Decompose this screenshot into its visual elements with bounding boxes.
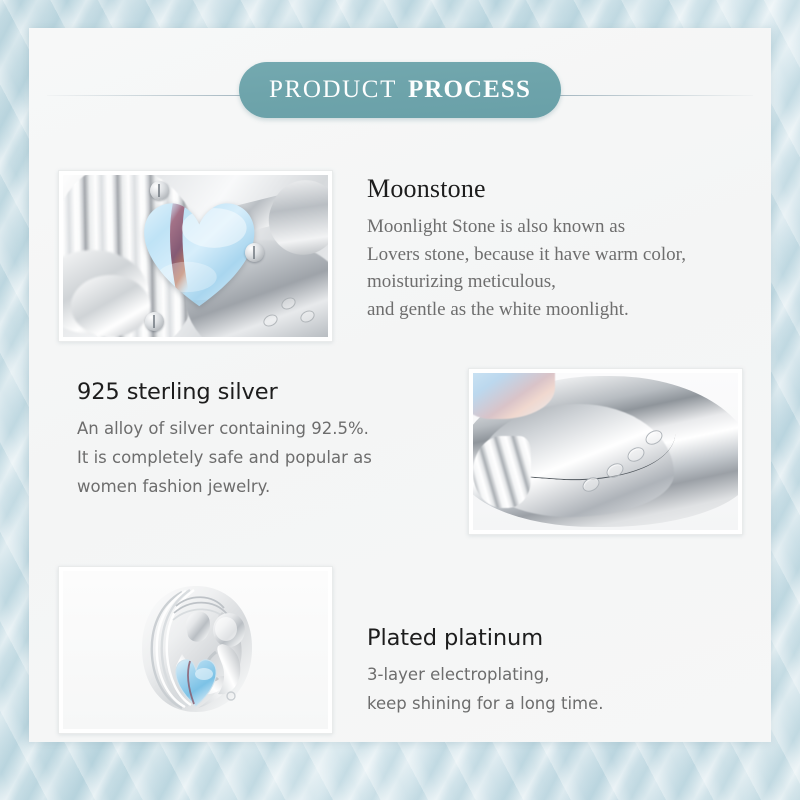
moonstone-heart-gem xyxy=(137,193,262,310)
section-moonstone-line-3: moisturizing meticulous, xyxy=(367,268,747,296)
page-title-bold: PROCESS xyxy=(408,76,531,103)
page-title: PRODUCTPROCESS xyxy=(269,76,531,104)
section-plated-platinum-heading: Plated platinum xyxy=(367,625,747,651)
header-rule-left xyxy=(47,95,269,96)
moonstone-macro-photo xyxy=(63,175,328,337)
section-plated-platinum-line-2: keep shining for a long time. xyxy=(367,689,747,718)
header-banner-pill: PRODUCTPROCESS xyxy=(239,62,561,118)
inner-panel: PRODUCTPROCESS xyxy=(29,28,771,742)
section-sterling-silver-line-2: It is completely safe and popular as xyxy=(77,443,457,472)
section-moonstone-line-4: and gentle as the white moonlight. xyxy=(367,296,747,324)
section-plated-platinum-text: Plated platinum 3-layer electroplating, … xyxy=(367,625,747,718)
mother-child-charm-illustration xyxy=(130,582,262,718)
section-moonstone-heading: Moonstone xyxy=(367,174,747,204)
header: PRODUCTPROCESS xyxy=(29,62,771,124)
section-sterling-silver-line-1: An alloy of silver containing 92.5%. xyxy=(77,414,457,443)
section-sterling-silver-image-frame xyxy=(468,368,743,535)
section-moonstone-text: Moonstone Moonlight Stone is also known … xyxy=(367,174,747,323)
section-sterling-silver-line-3: women fashion jewelry. xyxy=(77,472,457,501)
section-sterling-silver-heading: 925 sterling silver xyxy=(77,379,457,405)
section-plated-platinum-image-frame xyxy=(58,566,333,734)
page-title-regular: PRODUCT xyxy=(269,76,397,103)
section-sterling-silver-text: 925 sterling silver An alloy of silver c… xyxy=(77,379,457,501)
section-moonstone-image-frame xyxy=(58,170,333,342)
product-process-infographic: PRODUCTPROCESS xyxy=(0,0,800,800)
section-plated-platinum-line-1: 3-layer electroplating, xyxy=(367,660,747,689)
section-moonstone-line-2: Lovers stone, because it have warm color… xyxy=(367,241,747,269)
header-rule-right xyxy=(531,95,753,96)
section-moonstone-line-1: Moonlight Stone is also known as xyxy=(367,213,747,241)
mother-child-charm-photo xyxy=(63,571,328,729)
ring-band-photo xyxy=(473,373,738,530)
